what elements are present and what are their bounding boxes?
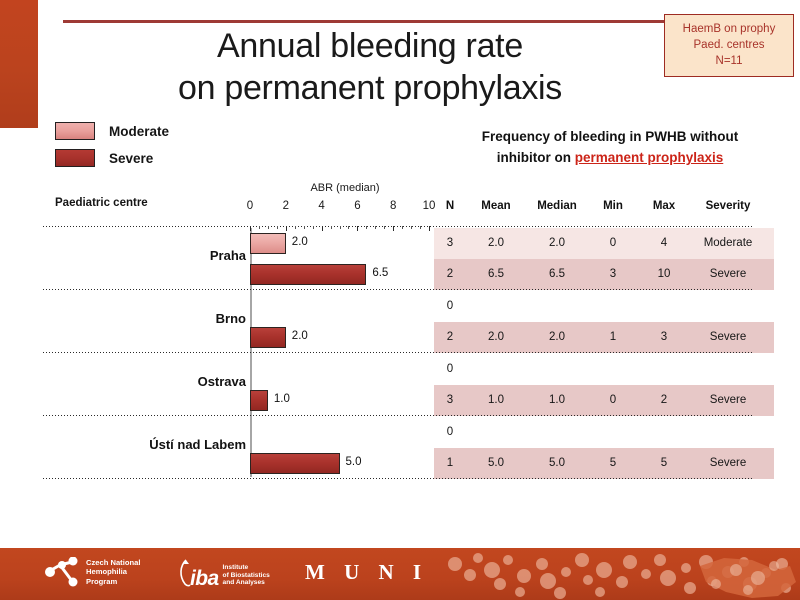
logo-czech-national-hemophilia-program: Czech National Hemophilia Program bbox=[45, 557, 140, 587]
x-axis-minor-tick bbox=[268, 226, 269, 229]
subtitle: Frequency of bleeding in PWHB without in… bbox=[440, 126, 780, 168]
logo1-line-2: Hemophilia bbox=[86, 567, 140, 576]
centre-label-praha: Praha bbox=[210, 248, 246, 263]
cell-severity: Severe bbox=[710, 394, 746, 406]
x-axis-tickmark bbox=[286, 226, 287, 231]
x-axis-minor-tick bbox=[331, 226, 332, 229]
cell-max: 3 bbox=[661, 331, 667, 343]
cell-mean: 2.0 bbox=[488, 331, 504, 343]
bar-praha-moderate bbox=[250, 233, 286, 254]
x-axis-minor-tick bbox=[295, 226, 296, 229]
cell-min: 1 bbox=[610, 331, 616, 343]
table-header-severity: Severity bbox=[706, 200, 751, 212]
cell-severity: Severe bbox=[710, 331, 746, 343]
footer-logos: Czech National Hemophilia Program iba In… bbox=[0, 548, 800, 600]
x-axis-minor-tick bbox=[277, 226, 278, 229]
left-accent-block bbox=[0, 0, 38, 128]
legend-item-severe: Severe bbox=[55, 147, 169, 169]
cell-median: 5.0 bbox=[549, 457, 565, 469]
cell-median: 6.5 bbox=[549, 268, 565, 280]
x-axis-minor-tick bbox=[411, 226, 412, 229]
callout-line-3: N=11 bbox=[667, 53, 791, 69]
cell-n: 0 bbox=[447, 300, 453, 312]
x-axis-tickmark bbox=[429, 226, 430, 231]
page-title: Annual bleeding rate on permanent prophy… bbox=[60, 25, 680, 109]
bar-value-label: 1.0 bbox=[274, 393, 290, 405]
cell-mean: 5.0 bbox=[488, 457, 504, 469]
logo2-line-1: Institute bbox=[223, 564, 270, 572]
logo-muni: M U N I bbox=[305, 560, 428, 585]
bar-brno-severe bbox=[250, 327, 286, 348]
legend-swatch-severe-icon bbox=[55, 149, 95, 167]
legend-item-moderate: Moderate bbox=[55, 120, 169, 142]
x-axis-tick-10: 10 bbox=[423, 200, 436, 212]
subtitle-highlight: permanent prophylaxis bbox=[575, 150, 724, 165]
x-axis-tick-2: 2 bbox=[283, 200, 289, 212]
logo2-line-3: and Analyses bbox=[223, 579, 270, 587]
x-axis-minor-tick bbox=[259, 226, 260, 229]
x-axis-tickmark bbox=[322, 226, 323, 231]
x-axis-minor-tick bbox=[375, 226, 376, 229]
logo-iba: iba Institute of Biostatistics and Analy… bbox=[178, 558, 270, 589]
callout-box: HaemB on prophy Paed. centres N=11 bbox=[664, 14, 794, 77]
x-axis-tickmark bbox=[250, 226, 251, 231]
cell-n: 3 bbox=[447, 237, 453, 249]
slide-footer: Czech National Hemophilia Program iba In… bbox=[0, 548, 800, 600]
x-axis-tick-4: 4 bbox=[318, 200, 324, 212]
title-line-2: on permanent prophylaxis bbox=[60, 67, 680, 109]
bar-value-label: 2.0 bbox=[292, 236, 308, 248]
cell-n: 0 bbox=[447, 426, 453, 438]
logo1-line-1: Czech National bbox=[86, 558, 140, 567]
x-axis-tickmark bbox=[357, 226, 358, 231]
title-line-1: Annual bleeding rate bbox=[60, 25, 680, 67]
bar-ústí-nad-labem-severe bbox=[250, 453, 340, 474]
table-header-n: N bbox=[446, 200, 454, 212]
chart-legend: Moderate Severe bbox=[55, 120, 169, 174]
logo2-subtext: Institute of Biostatistics and Analyses bbox=[223, 564, 270, 587]
legend-label-moderate: Moderate bbox=[109, 124, 169, 139]
x-axis-minor-tick bbox=[384, 226, 385, 229]
callout-line-2: Paed. centres bbox=[667, 37, 791, 53]
x-axis-tick-labels: 0246810 bbox=[0, 200, 800, 216]
x-axis-minor-tick bbox=[348, 226, 349, 229]
table-header-mean: Mean bbox=[481, 200, 510, 212]
cell-mean: 2.0 bbox=[488, 237, 504, 249]
bar-value-label: 6.5 bbox=[372, 267, 388, 279]
cell-median: 1.0 bbox=[549, 394, 565, 406]
subtitle-prefix: inhibitor on bbox=[497, 150, 575, 165]
x-axis-tick-8: 8 bbox=[390, 200, 396, 212]
cell-n: 2 bbox=[447, 331, 453, 343]
slide-canvas: Annual bleeding rate on permanent prophy… bbox=[0, 0, 800, 600]
cell-severity: Severe bbox=[710, 268, 746, 280]
x-axis-minor-tick bbox=[340, 226, 341, 229]
row-separator bbox=[43, 415, 753, 416]
centre-label-brno: Brno bbox=[216, 311, 246, 326]
callout-line-1: HaemB on prophy bbox=[667, 21, 791, 37]
cell-min: 0 bbox=[610, 394, 616, 406]
row-separator bbox=[43, 352, 753, 353]
cell-min: 3 bbox=[610, 268, 616, 280]
x-axis-tickmark bbox=[393, 226, 394, 231]
table-header-max: Max bbox=[653, 200, 675, 212]
hemophilia-molecule-icon bbox=[45, 557, 79, 587]
x-axis-tick-6: 6 bbox=[354, 200, 360, 212]
bar-value-label: 2.0 bbox=[292, 330, 308, 342]
cell-median: 2.0 bbox=[549, 331, 565, 343]
cell-n: 1 bbox=[447, 457, 453, 469]
cell-max: 2 bbox=[661, 394, 667, 406]
row-separator bbox=[43, 289, 753, 290]
cell-max: 4 bbox=[661, 237, 667, 249]
cell-n: 3 bbox=[447, 394, 453, 406]
centre-label-ústí-nad-labem: Ústí nad Labem bbox=[149, 437, 246, 452]
logo2-word: iba bbox=[190, 568, 219, 589]
cell-severity: Severe bbox=[710, 457, 746, 469]
cell-severity: Moderate bbox=[704, 237, 753, 249]
bar-value-label: 5.0 bbox=[346, 456, 362, 468]
row-separator bbox=[43, 226, 753, 227]
cell-n: 2 bbox=[447, 268, 453, 280]
cell-max: 10 bbox=[658, 268, 671, 280]
cell-min: 5 bbox=[610, 457, 616, 469]
logo1-line-3: Program bbox=[86, 577, 140, 586]
centre-label-ostrava: Ostrava bbox=[198, 374, 246, 389]
x-axis-minor-tick bbox=[402, 226, 403, 229]
logo2-line-2: of Biostatistics bbox=[223, 572, 270, 580]
x-axis-minor-tick bbox=[304, 226, 305, 229]
row-separator bbox=[43, 478, 753, 479]
cell-mean: 6.5 bbox=[488, 268, 504, 280]
subtitle-line-2: inhibitor on permanent prophylaxis bbox=[440, 147, 780, 168]
header-rule bbox=[63, 20, 693, 23]
subtitle-line-1: Frequency of bleeding in PWHB without bbox=[440, 126, 780, 147]
logo1-text: Czech National Hemophilia Program bbox=[86, 558, 140, 586]
cell-min: 0 bbox=[610, 237, 616, 249]
cell-n: 0 bbox=[447, 363, 453, 375]
bar-ostrava-severe bbox=[250, 390, 268, 411]
legend-label-severe: Severe bbox=[109, 151, 153, 166]
table-header-median: Median bbox=[537, 200, 577, 212]
bar-praha-severe bbox=[250, 264, 366, 285]
table-header-min: Min bbox=[603, 200, 623, 212]
cell-median: 2.0 bbox=[549, 237, 565, 249]
legend-swatch-moderate-icon bbox=[55, 122, 95, 140]
x-axis-minor-tick bbox=[420, 226, 421, 229]
x-axis-minor-tick bbox=[313, 226, 314, 229]
x-axis-minor-tick bbox=[366, 226, 367, 229]
cell-mean: 1.0 bbox=[488, 394, 504, 406]
chart-table-region: Paediatric centre ABR (median) 0246810 2… bbox=[0, 180, 800, 485]
chart-axis-title: ABR (median) bbox=[250, 182, 440, 194]
cell-max: 5 bbox=[661, 457, 667, 469]
x-axis-tick-0: 0 bbox=[247, 200, 253, 212]
